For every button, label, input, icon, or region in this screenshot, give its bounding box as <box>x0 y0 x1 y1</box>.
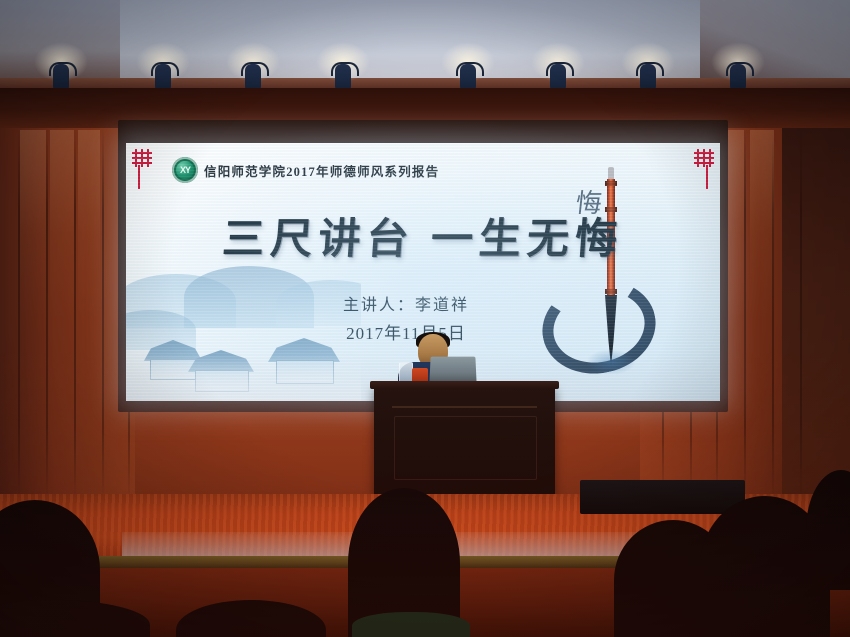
audience-shoulders <box>352 612 470 637</box>
panel-seam <box>102 128 104 500</box>
panel-seam <box>744 128 746 500</box>
panel-seam <box>800 128 802 500</box>
panel-sheen <box>20 130 46 320</box>
panel-sheen <box>78 130 100 320</box>
lecture-hall-scene: XY 信阳师范学院2017年师德师风系列报告 悔 三尺讲台 一生无悔 主讲人：李… <box>0 0 850 637</box>
panel-sheen <box>50 130 74 320</box>
far-right-recess <box>782 88 850 508</box>
panel-sheen <box>750 130 774 320</box>
panel-seam <box>46 128 48 500</box>
monitor-screen <box>580 480 745 514</box>
panel-seam <box>74 128 76 500</box>
podium <box>374 386 555 498</box>
